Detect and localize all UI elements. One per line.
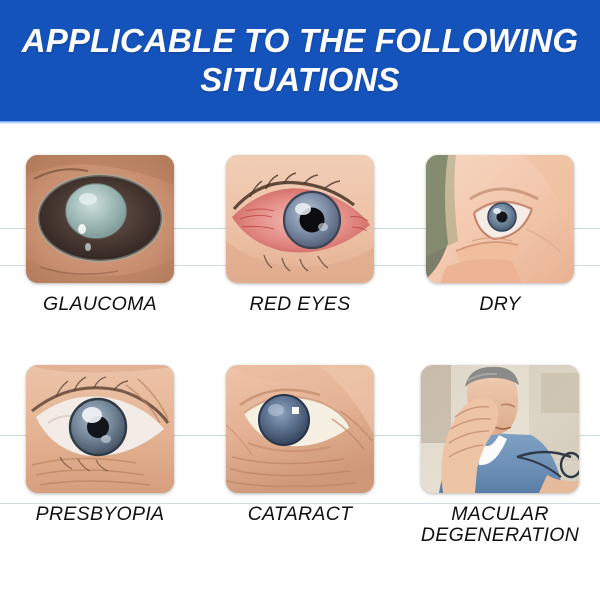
infographic-page: APPLICABLE TO THE FOLLOWING SITUATIONS (0, 0, 600, 600)
condition-image-cataract (226, 365, 374, 493)
condition-cell-macular-degeneration[interactable]: MACULAR DEGENERATION (400, 365, 600, 580)
condition-image-red-eyes (226, 155, 374, 283)
condition-label-macular-degeneration: MACULAR DEGENERATION (421, 504, 579, 546)
condition-label-glaucoma: GLAUCOMA (43, 294, 157, 315)
condition-cell-presbyopia[interactable]: PRESBYOPIA (0, 365, 200, 580)
condition-image-macular-degeneration (421, 365, 579, 493)
condition-cell-red-eyes[interactable]: RED EYES (200, 155, 400, 345)
condition-cell-dry[interactable]: DRY (400, 155, 600, 345)
condition-label-red-eyes: RED EYES (249, 294, 350, 315)
condition-label-cataract: CATARACT (248, 504, 353, 525)
header-banner: APPLICABLE TO THE FOLLOWING SITUATIONS (0, 0, 600, 121)
condition-image-glaucoma (26, 155, 174, 283)
condition-cell-cataract[interactable]: CATARACT (200, 365, 400, 580)
condition-image-presbyopia (26, 365, 174, 493)
page-title: APPLICABLE TO THE FOLLOWING SITUATIONS (20, 22, 580, 99)
condition-cell-glaucoma[interactable]: GLAUCOMA (0, 155, 200, 345)
conditions-grid: GLAUCOMA (0, 121, 600, 600)
conditions-row-2: PRESBYOPIA (0, 365, 600, 580)
condition-label-dry: DRY (479, 294, 520, 315)
condition-label-presbyopia: PRESBYOPIA (36, 504, 165, 525)
condition-image-dry (426, 155, 574, 283)
conditions-row-1: GLAUCOMA (0, 155, 600, 345)
